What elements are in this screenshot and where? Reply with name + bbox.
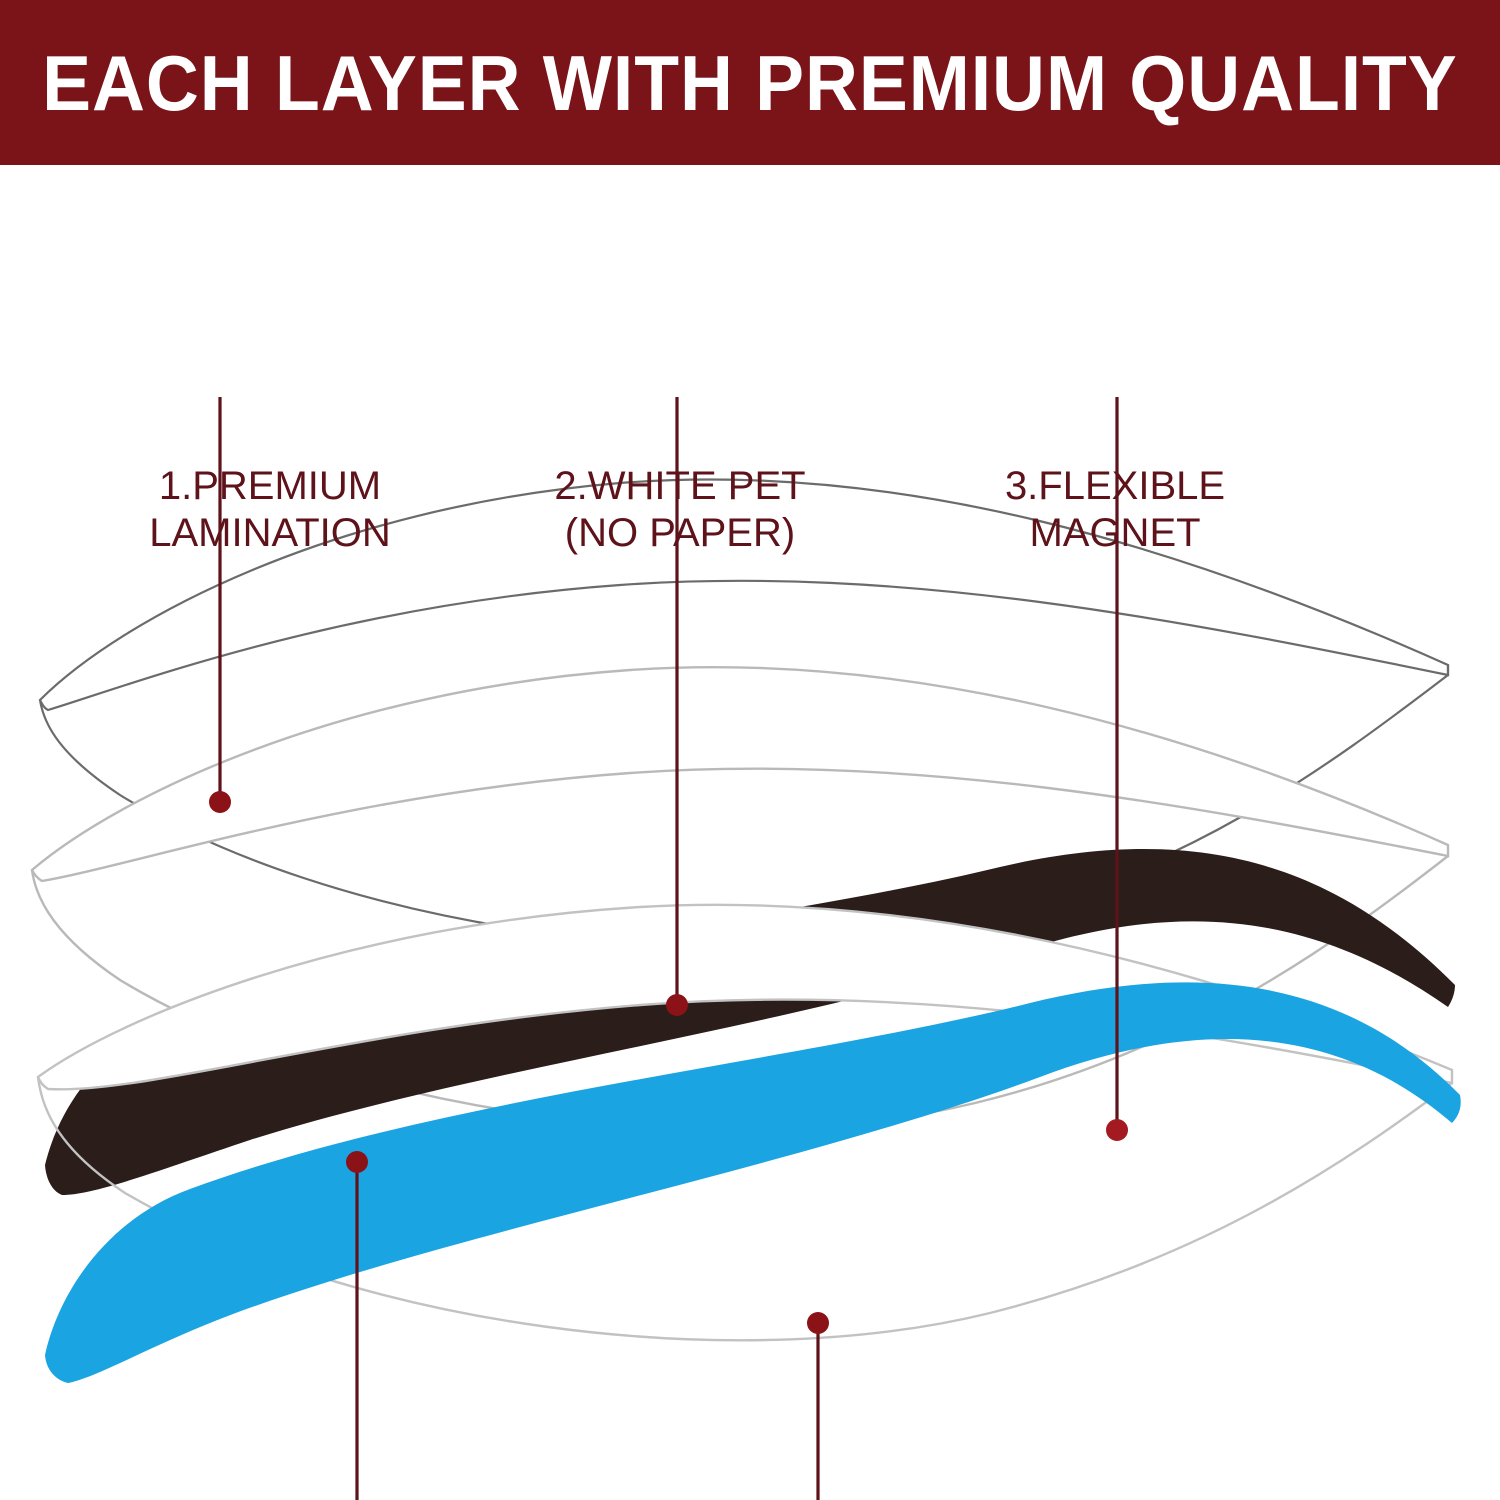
callout-label-white-pet: 2.WHITE PET (NO PAPER) <box>500 463 860 557</box>
leader-dot-3 <box>1106 1119 1128 1141</box>
leader-dot-4 <box>346 1151 368 1173</box>
title-banner: EACH LAYER WITH PREMIUM QUALITY <box>0 0 1500 165</box>
layer-diagram: 1.PREMIUM LAMINATION 2.WHITE PET (NO PAP… <box>0 165 1500 1500</box>
leader-5 <box>807 1312 829 1500</box>
leader-dot-2 <box>666 994 688 1016</box>
layer-white-pet <box>32 667 1448 881</box>
leader-dot-1 <box>209 791 231 813</box>
callout-label-flexible-magnet: 3.FLEXIBLE MAGNET <box>940 463 1290 557</box>
layer-stack-svg <box>0 165 1500 1500</box>
callout-label-premium-lamination: 1.PREMIUM LAMINATION <box>60 463 480 557</box>
page-title: EACH LAYER WITH PREMIUM QUALITY <box>42 44 1457 122</box>
infographic-root: EACH LAYER WITH PREMIUM QUALITY <box>0 0 1500 1500</box>
leader-dot-5 <box>807 1312 829 1334</box>
